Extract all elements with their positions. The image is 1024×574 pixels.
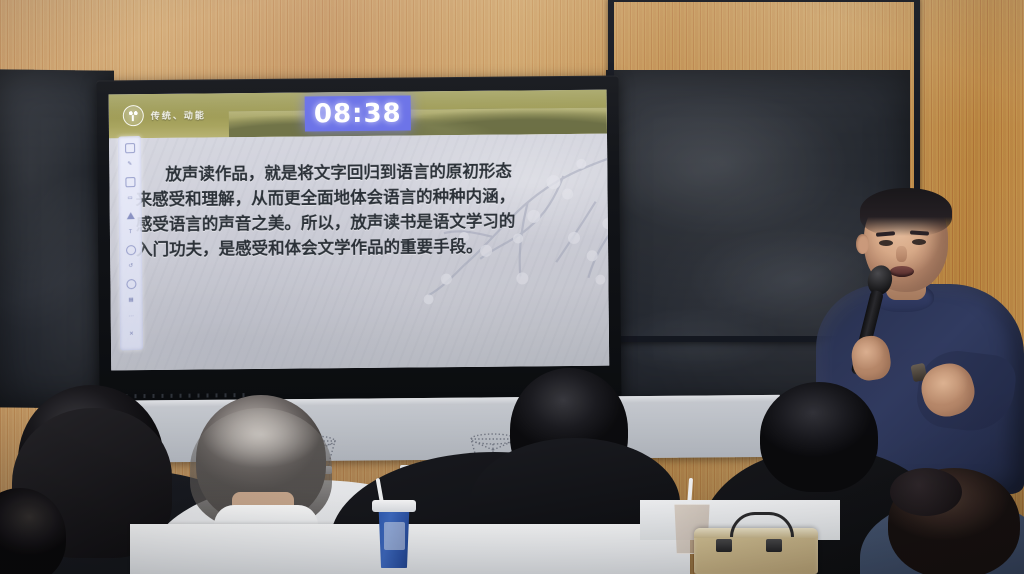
display-screen[interactable]: 传统、动能 08:38 — [109, 90, 610, 371]
cup-label — [384, 522, 405, 550]
eraser-icon[interactable] — [122, 175, 137, 188]
bag-clasp — [716, 539, 732, 552]
slide-logo-text: 传统、动能 — [151, 108, 206, 122]
pen-icon[interactable]: ✎ — [122, 158, 137, 171]
timer-value: 08:38 — [314, 98, 402, 129]
circular-emblem-icon — [123, 105, 144, 126]
countdown-timer[interactable]: 08:38 — [305, 95, 411, 131]
presenter-eye-left — [879, 240, 893, 246]
cup-lid — [372, 500, 416, 512]
slide-toolbar[interactable]: ✎ ▭ T ↺ ▦ ⋯ ✕ — [118, 136, 143, 351]
lecture-room-photo: 传统、动能 08:38 — [0, 0, 1024, 574]
text-icon[interactable]: T — [123, 226, 138, 239]
menu-icon[interactable] — [122, 141, 137, 154]
presenter-nose — [896, 246, 907, 262]
presenter-ear — [856, 234, 869, 254]
more-icon[interactable]: ⋯ — [124, 311, 139, 324]
close-icon[interactable]: ✕ — [124, 328, 139, 341]
attendee-hair-bun — [890, 468, 962, 516]
undo-icon[interactable]: ↺ — [123, 260, 138, 273]
whiteboard-ledge — [60, 395, 781, 463]
select-icon[interactable]: ▭ — [123, 192, 138, 205]
presentation-slide: 传统、动能 08:38 — [109, 90, 610, 371]
bag-clasp — [766, 539, 782, 552]
slide-body: 放声读作品，就是将文字回归到语言的原初形态 来感受和理解，从而更全面地体会语言的… — [109, 134, 609, 371]
presenter-eye-right — [912, 239, 926, 245]
attendee-right-head — [760, 382, 878, 492]
front-desk — [130, 524, 690, 574]
slide-line-4: 入门功夫，是感受和体会文学作品的重要手段。 — [136, 233, 590, 262]
ring-icon[interactable] — [123, 277, 138, 290]
interactive-display-bezel[interactable]: 传统、动能 08:38 — [96, 76, 621, 403]
slide-banner: 传统、动能 08:38 — [109, 90, 607, 139]
shape-icon[interactable] — [123, 209, 138, 222]
circle-icon[interactable] — [123, 243, 138, 256]
slide-logo: 传统、动能 — [123, 104, 206, 126]
slide-text-block: 放声读作品，就是将文字回归到语言的原初形态 来感受和理解，从而更全面地体会语言的… — [135, 158, 590, 262]
bezel-speaker-grille — [125, 393, 245, 398]
presenter-hair — [860, 188, 952, 236]
grid-icon[interactable]: ▦ — [124, 294, 139, 307]
